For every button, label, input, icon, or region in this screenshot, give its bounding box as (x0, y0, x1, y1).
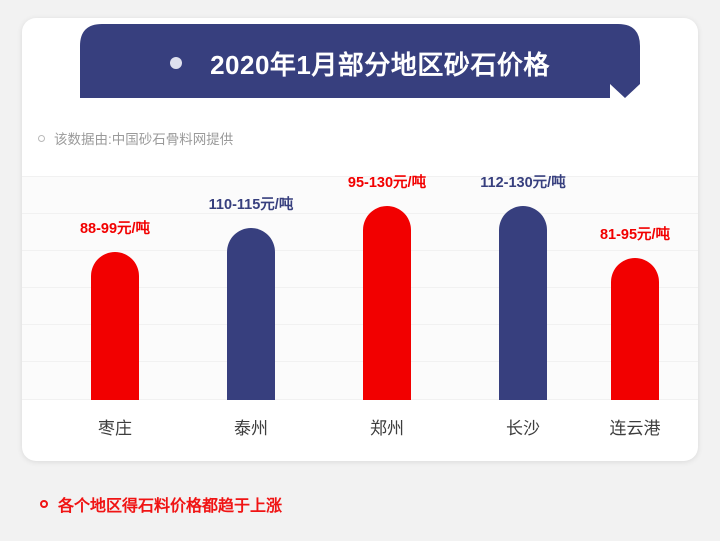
bar-group-0: 88-99元/吨 (47, 176, 183, 400)
footer-note: 各个地区得石料价格都趋于上涨 (40, 492, 282, 516)
bar-group-4: 81-95元/吨 (567, 176, 703, 400)
bar-1[interactable] (227, 228, 275, 400)
bar-value-label-4: 81-95元/吨 (600, 223, 670, 244)
bar-group-2: 95-130元/吨 (319, 176, 455, 400)
x-axis: 枣庄 泰州 郑州 长沙 连云港 (22, 400, 698, 448)
bar-0[interactable] (91, 252, 139, 400)
bars-layer: 88-99元/吨 110-115元/吨 95-130元/吨 112-130元/吨… (22, 176, 698, 400)
bar-value-label-0: 88-99元/吨 (80, 217, 150, 238)
source-note: 该数据由:中国砂石骨料网提供 (38, 128, 233, 148)
bar-3[interactable] (499, 206, 547, 400)
footer-note-label: 各个地区得石料价格都趋于上涨 (58, 492, 282, 516)
bar-value-label-1: 110-115元/吨 (209, 193, 294, 214)
hollow-circle-icon (38, 135, 45, 142)
title-banner: 2020年1月部分地区砂石价格 (80, 24, 640, 98)
bar-2[interactable] (363, 206, 411, 400)
x-axis-label-2: 郑州 (319, 414, 455, 439)
hollow-circle-icon (40, 500, 48, 508)
bar-4[interactable] (611, 258, 659, 400)
plot-area: 88-99元/吨 110-115元/吨 95-130元/吨 112-130元/吨… (22, 176, 698, 400)
source-note-label: 该数据由:中国砂石骨料网提供 (54, 128, 233, 148)
x-axis-label-0: 枣庄 (47, 414, 183, 439)
page-title: 2020年1月部分地区砂石价格 (210, 45, 550, 82)
x-axis-label-4: 连云港 (567, 414, 703, 439)
x-axis-label-1: 泰州 (183, 414, 319, 439)
filled-dot-icon (170, 57, 182, 69)
bar-value-label-2: 95-130元/吨 (348, 171, 426, 192)
bar-value-label-3: 112-130元/吨 (480, 171, 565, 192)
bar-group-1: 110-115元/吨 (183, 176, 319, 400)
